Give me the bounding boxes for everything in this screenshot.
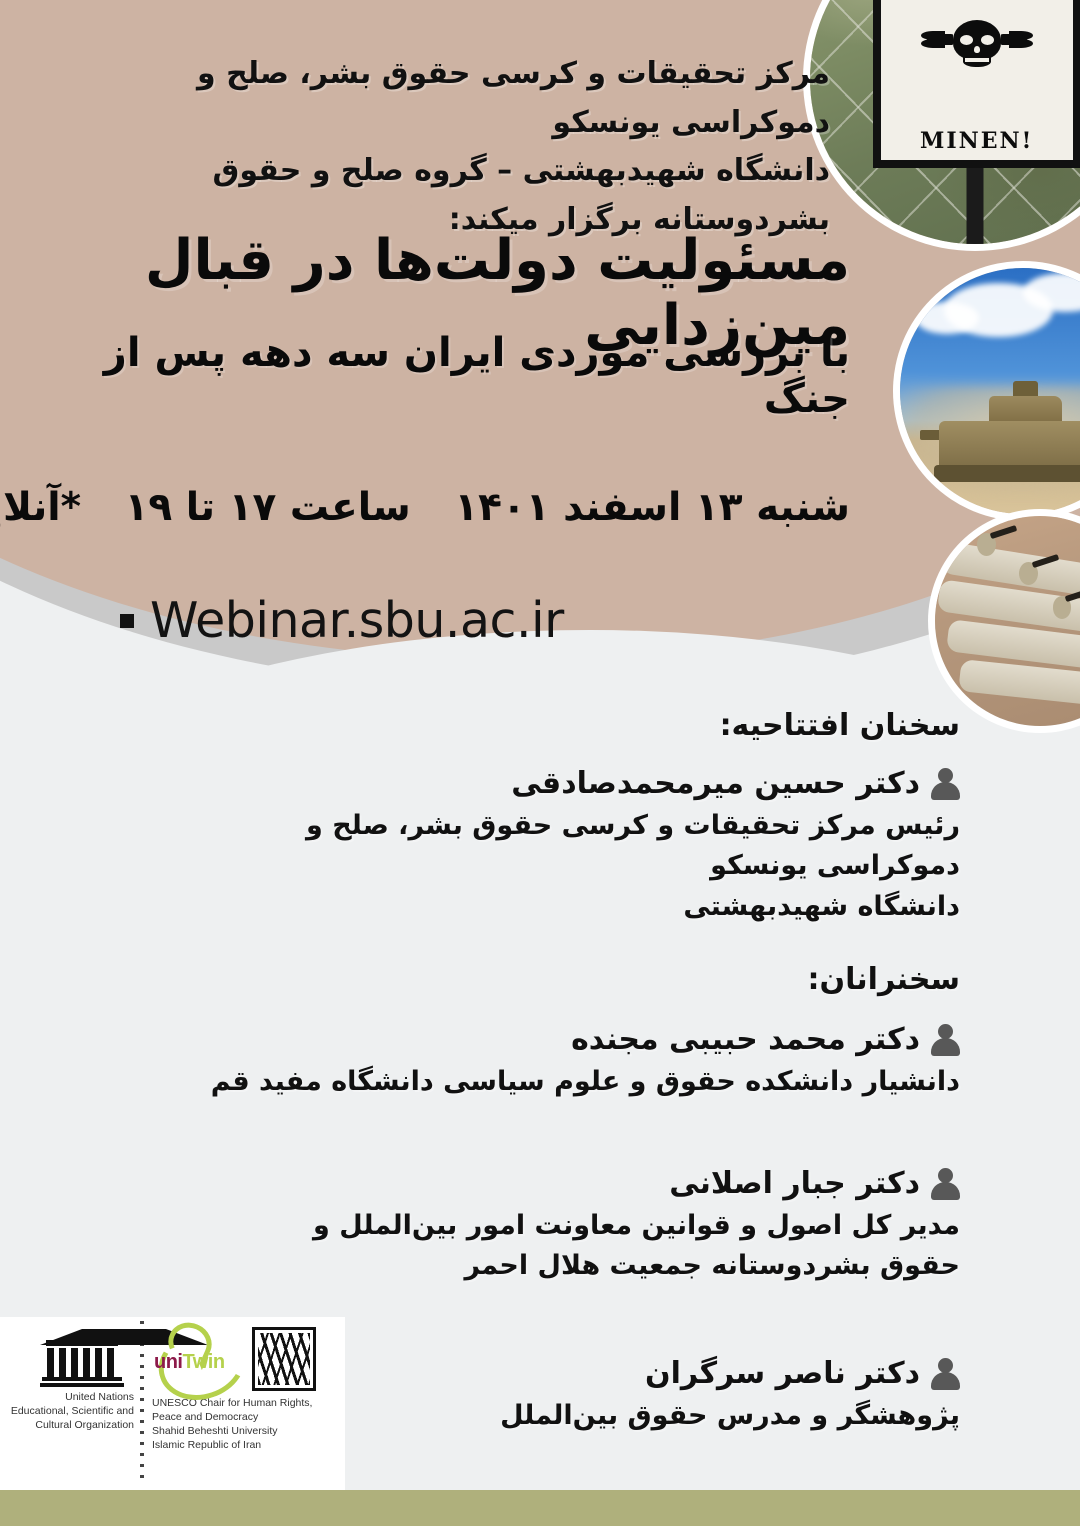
poster-root: ACHTUNG MINEN!: [0, 0, 1080, 1526]
chair-caption-line-3: Shahid Beheshti University: [152, 1425, 338, 1439]
opening-speaker-block: دکتر حسین میرمحمدصادقی رئیس مرکز تحقیقات…: [200, 762, 960, 927]
shahid-beheshti-university-seal: [252, 1327, 316, 1391]
chair-caption-line-4: Islamic Republic of Iran: [152, 1439, 338, 1453]
person-icon: [930, 768, 960, 800]
speaker-3-name: دکتر ناصر سرگران: [645, 1352, 920, 1396]
warning-sign-face: ACHTUNG MINEN!: [881, 0, 1073, 160]
speakers-heading: سخنرانان:: [200, 962, 960, 997]
unitwin-text-uni: uni: [154, 1351, 183, 1373]
chair-caption-line-2: Peace and Democracy: [152, 1411, 338, 1425]
opening-remarks-heading: سخنان افتتاحیه:: [200, 708, 960, 743]
opening-speaker-name: دکتر حسین میرمحمدصادقی: [511, 762, 920, 806]
speaker-2-name-row: دکتر جبار اصلانی: [200, 1162, 960, 1206]
webinar-url-text[interactable]: Webinar.sbu.ac.ir: [150, 592, 564, 649]
speaker-block-3: دکتر ناصر سرگران پژوهشگر و مدرس حقوق بین…: [300, 1352, 960, 1436]
unesco-caption: United Nations Educational, Scientific a…: [8, 1391, 134, 1433]
person-icon: [930, 1358, 960, 1390]
speaker-1-name-row: دکتر محمد حبیبی مجنده: [140, 1018, 960, 1062]
chair-logo-row: uniTwin: [152, 1327, 338, 1391]
event-time: ساعت ۱۷ تا ۱۹: [125, 485, 411, 530]
event-mode: *آنلاین*: [0, 485, 81, 530]
tank-hull: [939, 421, 1080, 470]
person-icon: [930, 1168, 960, 1200]
opening-speaker-affiliation-2: دانشگاه شهیدبهشتی: [200, 887, 960, 928]
unitwin-logo: uniTwin: [152, 1327, 244, 1391]
prone-soldiers-photo: [935, 516, 1080, 726]
unesco-caption-line-1: United Nations: [8, 1391, 134, 1405]
speaker-block-1: دکتر محمد حبیبی مجنده دانشیار دانشکده حق…: [140, 1018, 960, 1102]
logo-card: United Nations Educational, Scientific a…: [0, 1317, 345, 1490]
unesco-temple-icon: [40, 1329, 124, 1387]
bottom-color-bar: [0, 1490, 1080, 1526]
tank-in-desert-photo: [900, 268, 1080, 514]
opening-speaker-affiliation-1: رئیس مرکز تحقیقات و کرسی حقوق بشر، صلح و…: [200, 806, 960, 887]
speaker-1-name: دکتر محمد حبیبی مجنده: [571, 1018, 920, 1062]
skull-and-crossbones-icon: [941, 20, 1013, 76]
minen-label: MINEN!: [920, 128, 1033, 154]
speaker-3-name-row: دکتر ناصر سرگران: [300, 1352, 960, 1396]
chair-caption: UNESCO Chair for Human Rights, Peace and…: [152, 1397, 338, 1452]
person-icon: [930, 1024, 960, 1056]
speaker-3-affiliation-1: پژوهشگر و مدرس حقوق بین‌الملل: [300, 1396, 960, 1437]
webinar-url-row[interactable]: Webinar.sbu.ac.ir: [120, 592, 564, 649]
unesco-logo-column: United Nations Educational, Scientific a…: [0, 1317, 140, 1439]
speaker-2-name: دکتر جبار اصلانی: [669, 1162, 920, 1206]
speaker-2-affiliation-2: حقوق بشردوستانه جمعیت هلال احمر: [200, 1246, 960, 1287]
unitwin-text-twin: Twin: [183, 1351, 225, 1373]
organizer-block: مرکز تحقیقات و کرسی حقوق بشر، صلح و دموک…: [40, 50, 830, 244]
square-bullet-icon: [120, 614, 134, 628]
speaker-1-affiliation-1: دانشیار دانشکده حقوق و علوم سیاسی دانشگا…: [140, 1062, 960, 1103]
tank-track: [934, 465, 1080, 482]
speaker-2-affiliation-1: مدیر کل اصول و قوانین معاونت امور بین‌ال…: [200, 1206, 960, 1247]
event-datetime-row: شنبه ۱۳ اسفند ۱۴۰۱ ساعت ۱۷ تا ۱۹ *آنلاین…: [10, 485, 850, 530]
landmine-warning-sign-photo: ACHTUNG MINEN!: [810, 0, 1080, 244]
unesco-caption-line-3: Cultural Organization: [8, 1419, 134, 1433]
poster-subtitle: با بررسی موردی ایران سه دهه پس از جنگ: [20, 330, 850, 422]
unesco-caption-line-2: Educational, Scientific and: [8, 1405, 134, 1419]
speaker-block-2: دکتر جبار اصلانی مدیر کل اصول و قوانین م…: [200, 1162, 960, 1287]
opening-speaker-name-row: دکتر حسین میرمحمدصادقی: [200, 762, 960, 806]
chair-caption-line-1: UNESCO Chair for Human Rights,: [152, 1397, 338, 1411]
organizer-line-1: مرکز تحقیقات و کرسی حقوق بشر، صلح و دموک…: [40, 50, 830, 147]
chair-logo-column: uniTwin UNESCO Chair for Human Rights, P…: [144, 1317, 344, 1458]
event-date: شنبه ۱۳ اسفند ۱۴۰۱: [454, 485, 850, 530]
warning-sign-frame: ACHTUNG MINEN!: [873, 0, 1080, 168]
